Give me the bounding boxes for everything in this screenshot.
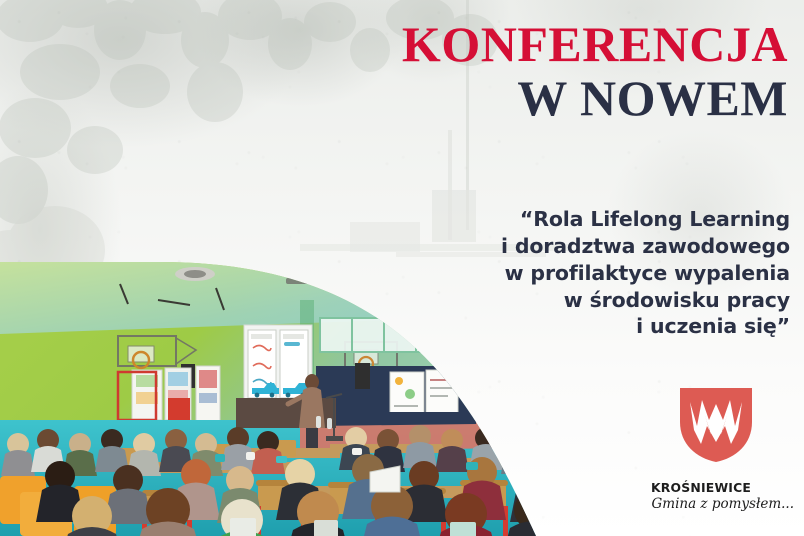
headline-line-2: W NOWEM (388, 74, 788, 122)
headline-line-1: KONFERENCJA (388, 20, 788, 68)
subtitle-line-3: w profilaktyce wypalenia (370, 260, 790, 287)
subtitle-line-4: w środowisku pracy (370, 287, 790, 314)
krosniewice-coat-of-arms-icon (678, 386, 754, 464)
conference-poster: KONFERENCJA W NOWEM “Rola Lifelong Learn… (0, 0, 804, 536)
subtitle-line-1: “Rola Lifelong Learning (370, 206, 790, 233)
krosniewice-logo: KROŚNIEWICE Gmina z pomysłem... (648, 386, 796, 520)
logo-town-name: KROŚNIEWICE (651, 480, 751, 495)
logo-tagline: Gmina z pomysłem... (648, 496, 794, 512)
subtitle-line-2: i doradztwa zawodowego (370, 233, 790, 260)
poster-subtitle-quote: “Rola Lifelong Learning i doradztwa zawo… (370, 206, 790, 340)
poster-headline: KONFERENCJA W NOWEM (388, 20, 788, 122)
subtitle-line-5: i uczenia się” (370, 313, 790, 340)
